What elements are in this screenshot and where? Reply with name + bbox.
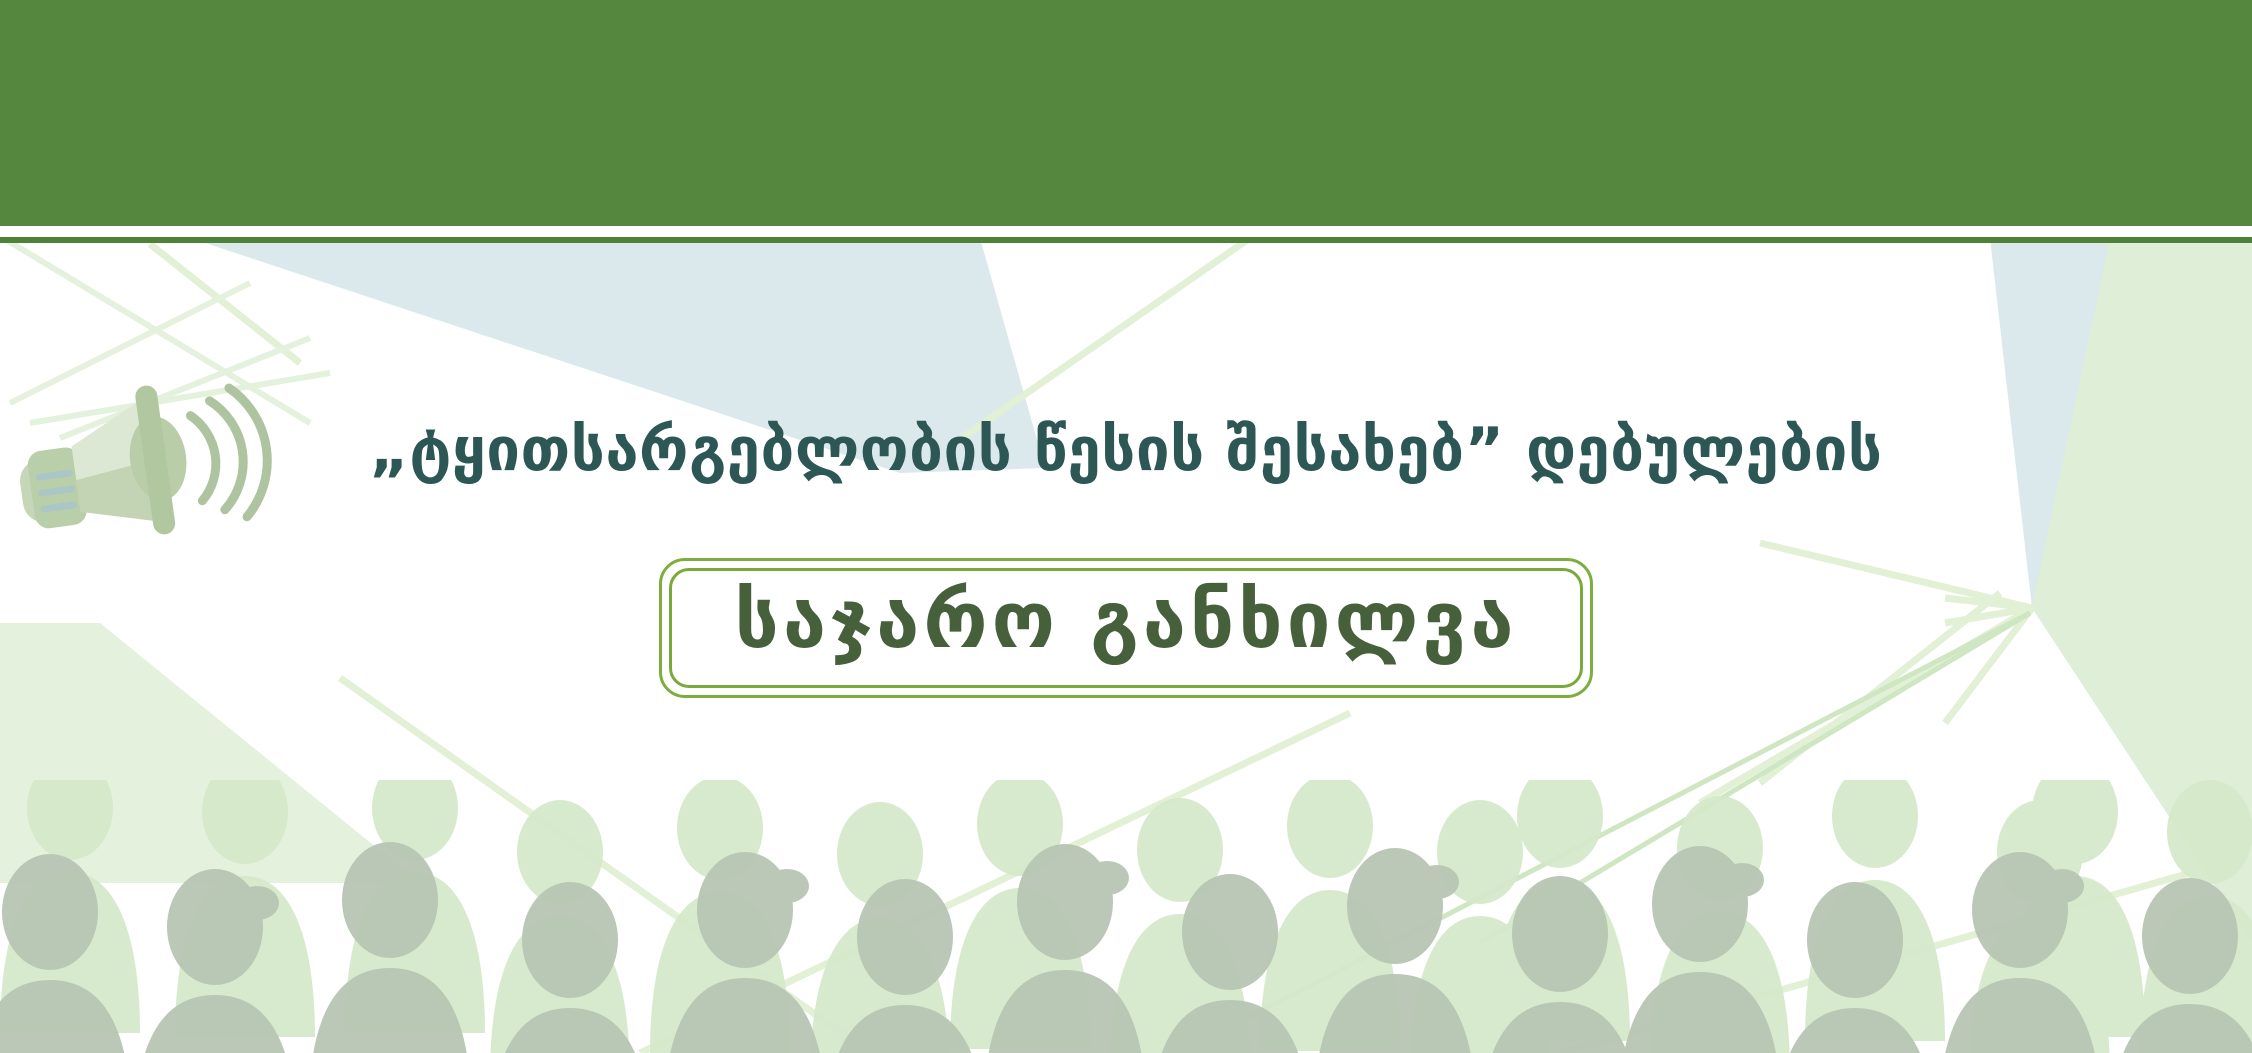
header-divider-rule xyxy=(0,237,2252,243)
callout-wrapper: საჯარო განხილვა xyxy=(0,558,2252,698)
header-bar xyxy=(0,0,2252,226)
page-title: „ტყითსარგებლობის წესის შესახებ” დებულები… xyxy=(0,420,2252,480)
callout-label: საჯარო განხილვა xyxy=(734,581,1517,663)
crowd-silhouette xyxy=(0,780,2252,1053)
callout-outer-border: საჯარო განხილვა xyxy=(659,558,1592,698)
callout-inner-border: საჯარო განხილვა xyxy=(669,568,1582,688)
public-hearing-banner: 2 აპრილი, 12:00 „ტყითსარგებლობის წესის შ… xyxy=(0,0,2252,1053)
